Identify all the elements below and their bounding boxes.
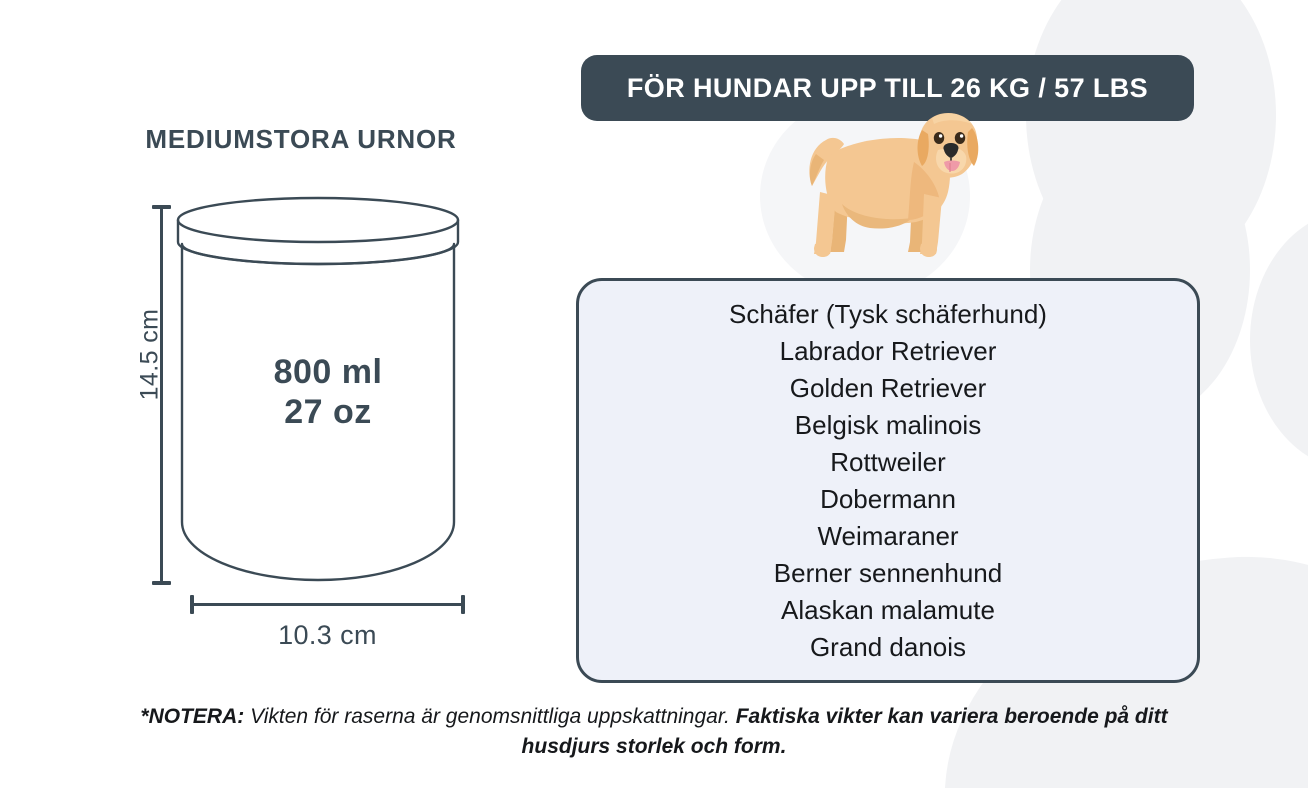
weight-banner-text: FÖR HUNDAR UPP TILL 26 KG / 57 LBS bbox=[627, 73, 1148, 104]
height-dimension-label: 14.5 cm bbox=[135, 309, 164, 401]
urn-panel: MEDIUMSTORA URNOR 14.5 cm 800 ml 27 oz 1… bbox=[0, 0, 560, 788]
footnote-label: *NOTERA: bbox=[140, 705, 244, 728]
urn-heading: MEDIUMSTORA URNOR bbox=[0, 124, 560, 155]
background-circle-3 bbox=[1250, 210, 1308, 470]
footnote: *NOTERA: Vikten för raserna är genomsnit… bbox=[104, 702, 1204, 762]
breed-item: Golden Retriever bbox=[790, 370, 987, 407]
breed-item: Schäfer (Tysk schäferhund) bbox=[729, 296, 1047, 333]
width-dimension-label: 10.3 cm bbox=[190, 620, 465, 651]
breed-list-box: Schäfer (Tysk schäferhund) Labrador Retr… bbox=[576, 278, 1200, 683]
breed-item: Rottweiler bbox=[830, 444, 946, 481]
background-circle-1 bbox=[1026, 0, 1276, 280]
breed-item: Labrador Retriever bbox=[780, 333, 997, 370]
breed-item: Berner sennenhund bbox=[774, 555, 1002, 592]
urn-volume-text: 800 ml 27 oz bbox=[188, 352, 468, 432]
urn-volume-oz: 27 oz bbox=[188, 392, 468, 432]
breed-item: Grand danois bbox=[810, 629, 966, 666]
urn-volume-ml: 800 ml bbox=[188, 352, 468, 392]
breed-item: Alaskan malamute bbox=[781, 592, 995, 629]
breed-item: Weimaraner bbox=[817, 518, 958, 555]
footnote-body: Vikten för raserna är genomsnittliga upp… bbox=[244, 705, 735, 728]
breed-item: Dobermann bbox=[820, 481, 956, 518]
breed-item: Belgisk malinois bbox=[795, 407, 981, 444]
width-dimension-line bbox=[190, 603, 465, 606]
golden-retriever-icon bbox=[792, 100, 992, 275]
